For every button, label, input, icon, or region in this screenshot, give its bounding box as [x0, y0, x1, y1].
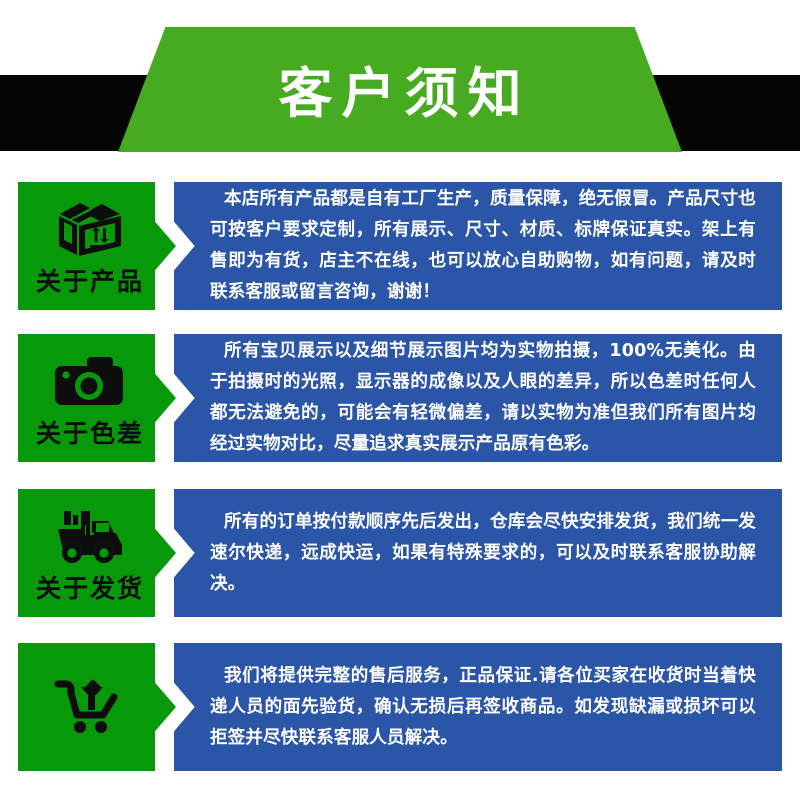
section-text-shipping: 所有的订单按付款顺序先后发出，仓库会尽快安排发货，我们统一发速尔快递，远成快运，…	[210, 507, 756, 600]
return-cart-icon	[50, 674, 128, 740]
section-tile-aftersales	[18, 643, 176, 771]
section-text-aftersales: 我们将提供完整的售后服务，正品保证.请各位买家在收货时当着快递人员的面先验货，确…	[210, 661, 756, 754]
package-box-icon	[50, 198, 128, 264]
section-panel-color: 所有宝贝展示以及细节展示图片均为实物拍摄，100%无美化。由于拍摄时的光照，显示…	[174, 334, 782, 462]
page-title: 客户须知	[0, 27, 800, 152]
section-panel-aftersales: 我们将提供完整的售后服务，正品保证.请各位买家在收货时当着快递人员的面先验货，确…	[174, 643, 782, 771]
customer-notice-page: 客户须知	[0, 0, 800, 800]
forklift-truck-icon	[50, 505, 128, 571]
section-tile-product: 关于产品	[18, 182, 176, 310]
section-label-color: 关于色差	[34, 421, 144, 446]
camera-icon	[50, 350, 128, 416]
notice-section-shipping: 关于发货 所有的订单按付款顺序先后发出，仓库会尽快安排发货，我们统一发速尔快递，…	[0, 489, 800, 617]
section-label-shipping: 关于发货	[34, 576, 144, 601]
header-banner: 客户须知	[0, 0, 800, 152]
notice-section-product: 关于产品 本店所有产品都是自有工厂生产，质量保障，绝无假冒。产品尺寸也可按客户要…	[0, 182, 800, 310]
section-tile-shipping: 关于发货	[18, 489, 176, 617]
notice-section-aftersales: 我们将提供完整的售后服务，正品保证.请各位买家在收货时当着快递人员的面先验货，确…	[0, 643, 800, 771]
section-text-product: 本店所有产品都是自有工厂生产，质量保障，绝无假冒。产品尺寸也可按客户要求定制，所…	[210, 184, 756, 308]
notice-section-color: 关于色差 所有宝贝展示以及细节展示图片均为实物拍摄，100%无美化。由于拍摄时的…	[0, 334, 800, 462]
section-tile-color: 关于色差	[18, 334, 176, 462]
section-label-product: 关于产品	[34, 269, 144, 294]
section-panel-shipping: 所有的订单按付款顺序先后发出，仓库会尽快安排发货，我们统一发速尔快递，远成快运，…	[174, 489, 782, 617]
section-panel-product: 本店所有产品都是自有工厂生产，质量保障，绝无假冒。产品尺寸也可按客户要求定制，所…	[174, 182, 782, 310]
section-text-color: 所有宝贝展示以及细节展示图片均为实物拍摄，100%无美化。由于拍摄时的光照，显示…	[210, 336, 756, 460]
